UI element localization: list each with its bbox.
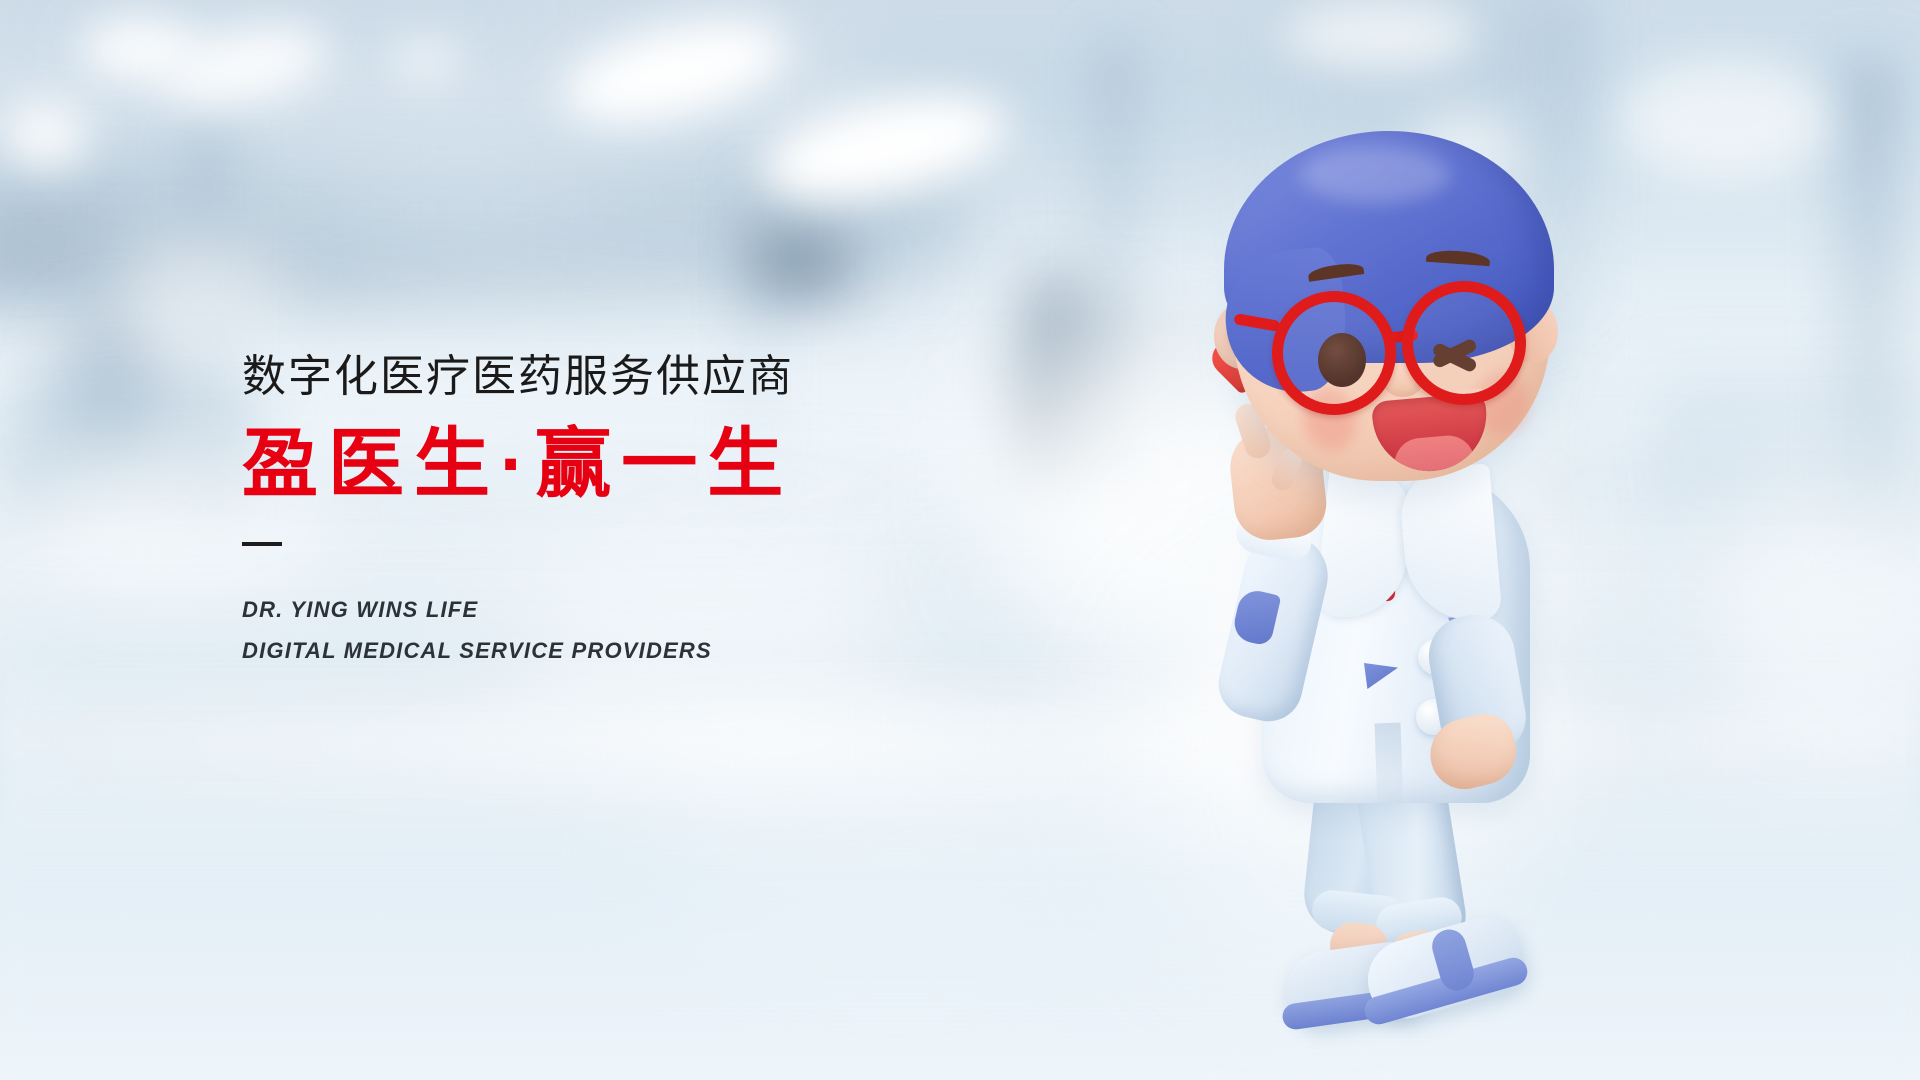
divider-rule: [242, 542, 282, 546]
glasses-lens-left: [1272, 291, 1396, 415]
hero-copy-block: 数字化医疗医药服务供应商 盈医生·赢一生 DR. YING WINS LIFE …: [242, 352, 1002, 671]
hero-subtitle-chinese: 数字化医疗医药服务供应商: [242, 352, 1002, 403]
floor-light-streak: [0, 700, 1920, 790]
hero-english-lines: DR. YING WINS LIFE DIGITAL MEDICAL SERVI…: [242, 590, 1002, 671]
glasses-lens-right: [1402, 281, 1526, 405]
doctor-mascot: [1190, 55, 1610, 1035]
hero-english-line-2: DIGITAL MEDICAL SERVICE PROVIDERS: [242, 631, 1002, 672]
hero-banner: 数字化医疗医药服务供应商 盈医生·赢一生 DR. YING WINS LIFE …: [0, 0, 1920, 1080]
mascot-coat-split: [1375, 723, 1404, 810]
hero-english-line-1: DR. YING WINS LIFE: [242, 590, 1002, 631]
hero-headline-chinese: 盈医生·赢一生: [242, 421, 1002, 508]
mascot-hair-highlight: [1300, 147, 1450, 203]
